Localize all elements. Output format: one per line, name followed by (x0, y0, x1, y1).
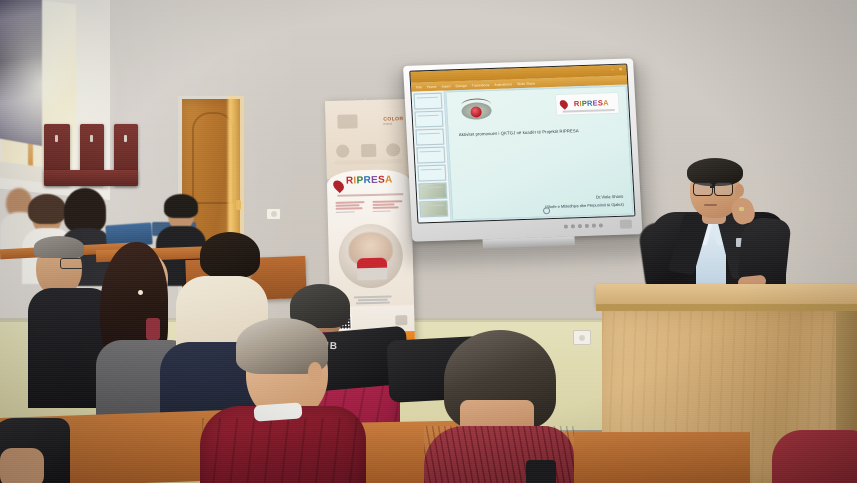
slide-ripresa-logo: RIPRESA (556, 93, 619, 115)
banner-ripresa-logo: RIPRESA (334, 175, 404, 194)
slide-thumbnail[interactable] (414, 93, 443, 110)
attendee-hair (164, 194, 198, 218)
pointer-cursor-icon (542, 207, 549, 214)
eyeglasses-icon (693, 182, 713, 196)
banner-column-right (372, 200, 404, 214)
young-man-ear (308, 362, 322, 382)
eyeglasses-bridge (710, 186, 715, 188)
presentation-room-photo: COLOR project RIPRESA (0, 0, 857, 483)
slide-heading: Aktivitet promovues i QKTGJ në kuadër të… (459, 127, 618, 138)
tab-design[interactable]: Design (455, 83, 466, 87)
puffer-quilting (202, 418, 362, 483)
display-button[interactable] (571, 224, 575, 228)
partner-logo-2 (336, 144, 349, 157)
partner-logo-1 (337, 114, 357, 128)
attendee-elderly-man-hair (34, 236, 84, 258)
display-button[interactable] (599, 223, 603, 227)
slide-thumbnail[interactable] (415, 129, 444, 146)
tab-slide-show[interactable]: Slide Show (517, 81, 535, 86)
slide-thumbnail[interactable] (416, 147, 445, 164)
speaker-ring (739, 207, 744, 211)
slide-thumbnail[interactable] (419, 201, 448, 218)
hook-icon (90, 135, 93, 142)
display-button[interactable] (592, 223, 596, 227)
hook-icon (55, 135, 58, 142)
current-slide: RIPRESA Aktivitet promovues i QKTGJ në k… (447, 87, 633, 220)
slide-thumbnail[interactable] (418, 183, 447, 200)
young-man-shirt-collar (254, 402, 303, 421)
close-icon[interactable]: ✕ (619, 68, 623, 73)
partner-logo-4 (386, 143, 400, 156)
coat-hook-board (44, 124, 142, 186)
qktgj-eye-blood-drop-icon (459, 96, 494, 123)
podium-top-surface (596, 284, 857, 306)
banner-column-left (335, 201, 367, 215)
banner-text-columns (335, 200, 404, 214)
slide-logo-underline (563, 109, 615, 113)
speaker-at-podium (640, 160, 800, 300)
attendee-far-right-sweater (772, 430, 857, 483)
attendee-hair (28, 194, 66, 224)
banner-logo-letters: RIPRESA (334, 175, 404, 187)
display-brand-logo (620, 219, 632, 228)
partner-logo-3 (361, 144, 376, 157)
foreground-hand (0, 448, 44, 483)
powerpoint-window[interactable]: – ✕ File Home Insert Design Transitions … (410, 65, 634, 223)
tab-file[interactable]: File (416, 85, 422, 89)
display-button[interactable] (585, 223, 589, 227)
slide-logo-letters: RIPRESA (566, 99, 609, 108)
slide-presenter-name: Dr.Viola Shano (596, 194, 624, 200)
interactive-display[interactable]: – ✕ File Home Insert Design Transitions … (403, 58, 643, 251)
earring-icon (138, 290, 143, 295)
powerpoint-body: RIPRESA Aktivitet promovues i QKTGJ në k… (411, 85, 634, 223)
hook-icon (124, 135, 127, 142)
tab-transitions[interactable]: Transitions (472, 83, 490, 88)
podium-lip (596, 304, 857, 311)
display-button[interactable] (578, 224, 582, 228)
speaker-ear (735, 184, 744, 197)
attendee-maroon-turtleneck (430, 330, 630, 483)
slide-presenter-role: (Shefe e Mbledhjes dhe Përpunimit të Gja… (545, 202, 624, 210)
eyeglasses-icon (60, 258, 84, 269)
speaker-mouth (704, 204, 717, 206)
attendee-young-man-red-puffer (208, 318, 408, 483)
tab-insert[interactable]: Insert (441, 84, 450, 88)
attendee-hair (64, 188, 106, 232)
eyeglasses-icon (714, 182, 733, 196)
slide-thumbnail[interactable] (414, 111, 443, 128)
phone-device[interactable] (526, 460, 556, 483)
slide-thumbnail[interactable] (417, 165, 446, 182)
tab-home[interactable]: Home (427, 84, 437, 88)
tab-animations[interactable]: Animations (494, 82, 512, 87)
attendee-curly-woman-scarf (146, 318, 160, 340)
slide-stage: RIPRESA Aktivitet promovues i QKTGJ në k… (444, 85, 634, 222)
plaque-rail (44, 170, 138, 186)
attendee-cream-hoodie-hair (200, 232, 260, 278)
minimize-icon[interactable]: – (611, 68, 614, 73)
partner-logo-caption (334, 159, 402, 165)
display-button[interactable] (564, 224, 568, 228)
